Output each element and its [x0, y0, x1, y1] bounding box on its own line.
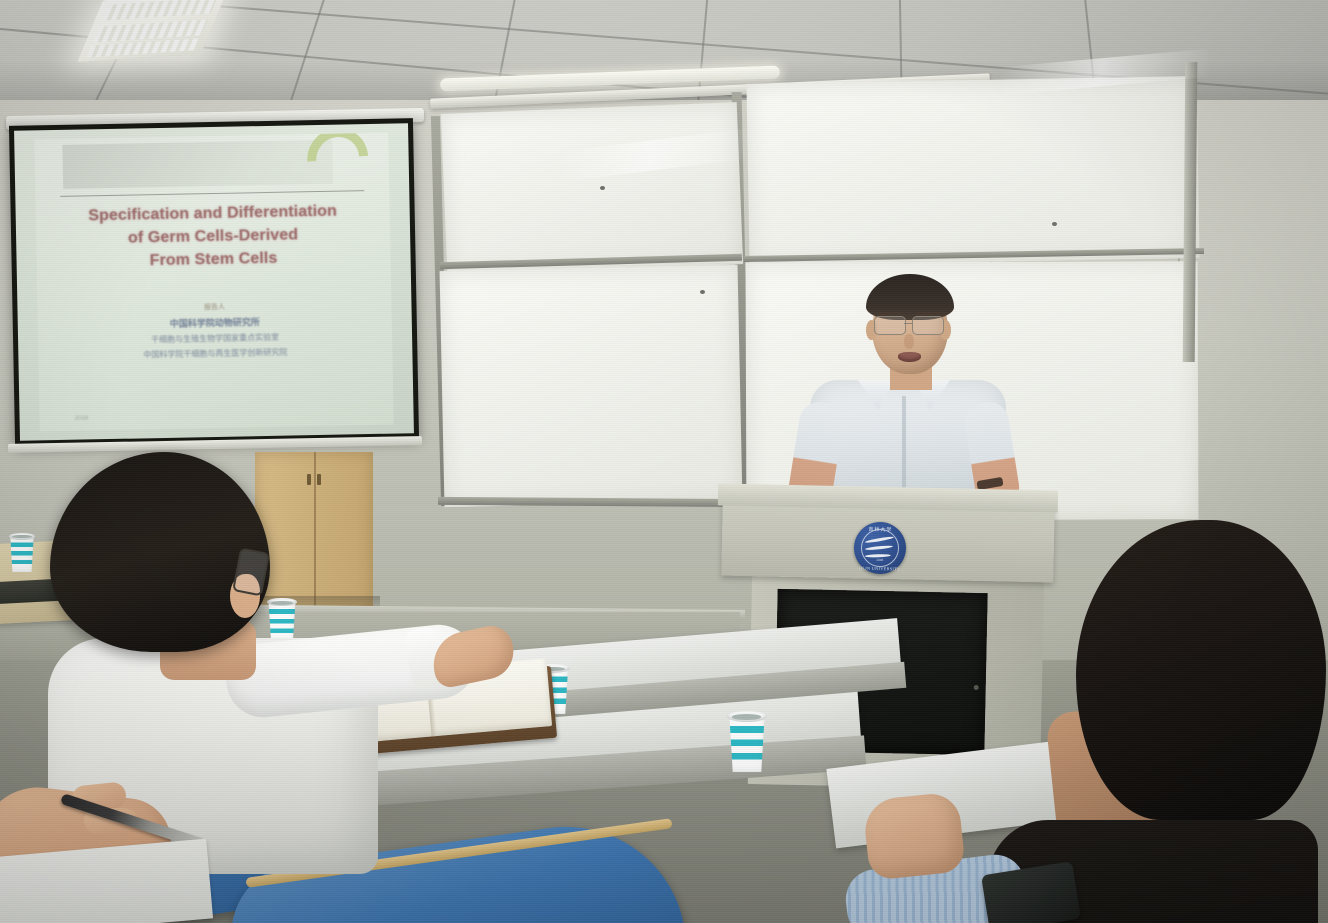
- attendee-bottom-right: [1030, 520, 1328, 923]
- speaker-glasses-left-lens: [874, 316, 906, 335]
- speaker-mouth: [898, 352, 921, 362]
- slide-title-line-3: From Stem Cells: [54, 246, 374, 275]
- speaker-nose: [904, 334, 914, 349]
- attendee-right-hand: [862, 791, 966, 881]
- slide-title: Specification and Differentiation of Ger…: [53, 200, 373, 274]
- slide-subtitle: 报告人 中国科学院动物研究所 干细胞与生殖生物学国家重点实验室 中国科学院干细胞…: [65, 300, 364, 365]
- presentation-slide: Specification and Differentiation of Ger…: [34, 133, 394, 431]
- whiteboard-panel-lower-left: [440, 265, 743, 507]
- ceiling-light-fixture: [77, 0, 227, 62]
- seal-chinese-name: 吉林大学: [854, 525, 906, 533]
- attendee-bottom-right-head: [1076, 520, 1326, 820]
- projector-screen: Specification and Differentiation of Ger…: [9, 118, 419, 446]
- seal-wing-emblem: [865, 540, 894, 554]
- whiteboard-panel-upper-right: [746, 76, 1199, 266]
- lecture-hall-photo: Specification and Differentiation of Ger…: [0, 0, 1328, 923]
- jilin-university-seal: 吉林大学 1946 JILIN UNIVERSITY: [853, 521, 906, 574]
- cup-rim: [9, 533, 36, 540]
- podium-monitor-power-led: [974, 685, 979, 690]
- speaker-glasses-right-lens: [912, 316, 944, 335]
- cup-body: [8, 536, 36, 572]
- paper-cup-far-left[interactable]: [8, 536, 36, 572]
- seal-english-name: JILIN UNIVERSITY: [854, 565, 906, 571]
- whiteboard-panel-upper-left: [441, 102, 743, 276]
- slide-footer: 2018: [75, 415, 88, 421]
- slide-divider-rule: [60, 190, 365, 197]
- speaker-glasses-bridge: [904, 323, 913, 324]
- speaker-person: [786, 276, 1022, 512]
- speaker-eyebrow-left: [877, 312, 901, 315]
- cup-body: [726, 716, 768, 772]
- attendee-front-left-hair: [50, 452, 270, 652]
- slide-header-band: [62, 140, 332, 189]
- paper-cup-right[interactable]: [726, 716, 768, 772]
